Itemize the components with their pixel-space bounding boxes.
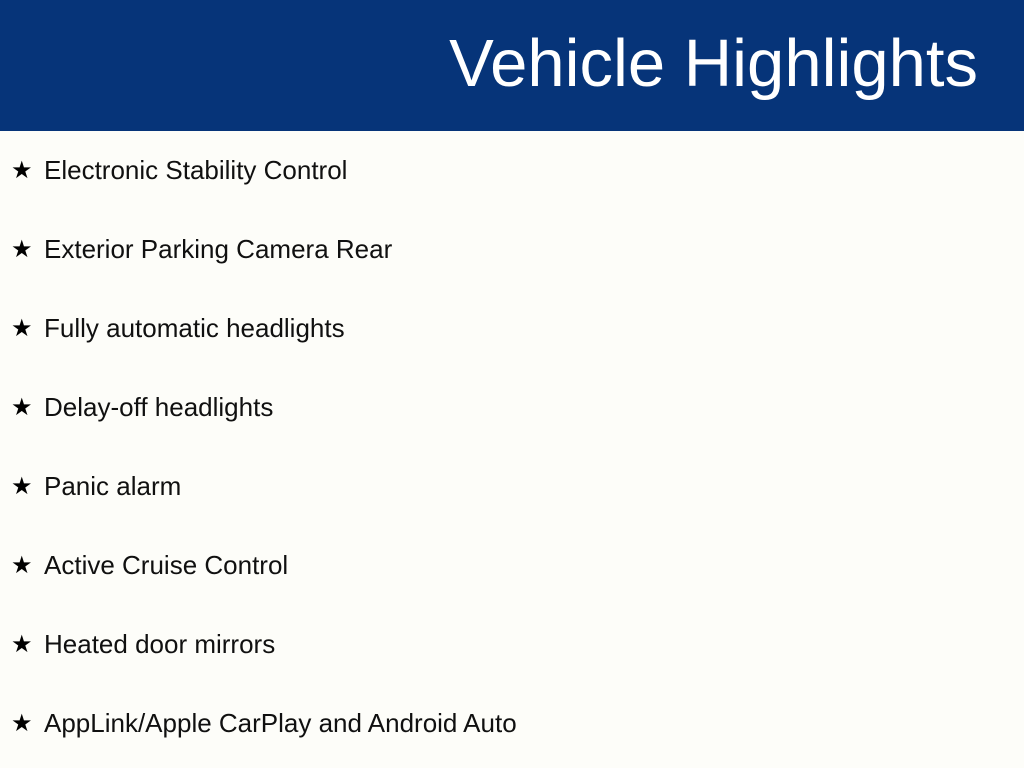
list-item: ★ Delay-off headlights xyxy=(0,368,1024,447)
vehicle-highlights-list: ★ Electronic Stability Control ★ Exterio… xyxy=(0,131,1024,763)
list-item: ★ Active Cruise Control xyxy=(0,526,1024,605)
list-item: ★ Heated door mirrors xyxy=(0,605,1024,684)
list-item-label: Electronic Stability Control xyxy=(44,156,347,185)
star-bullet-icon: ★ xyxy=(11,395,44,419)
list-item-label: Delay-off headlights xyxy=(44,393,273,422)
list-item-label: Panic alarm xyxy=(44,472,181,501)
star-bullet-icon: ★ xyxy=(11,237,44,261)
slide-root: Vehicle Highlights ★ Electronic Stabilit… xyxy=(0,0,1024,768)
list-item: ★ Exterior Parking Camera Rear xyxy=(0,210,1024,289)
star-bullet-icon: ★ xyxy=(11,632,44,656)
list-item-label: Active Cruise Control xyxy=(44,551,288,580)
list-item-label: Fully automatic headlights xyxy=(44,314,345,343)
list-item-label: Heated door mirrors xyxy=(44,630,275,659)
list-item: ★ Electronic Stability Control xyxy=(0,131,1024,210)
star-bullet-icon: ★ xyxy=(11,316,44,340)
list-item-label: AppLink/Apple CarPlay and Android Auto xyxy=(44,709,517,738)
list-item: ★ Panic alarm xyxy=(0,447,1024,526)
page-title: Vehicle Highlights xyxy=(449,30,1024,101)
list-item: ★ AppLink/Apple CarPlay and Android Auto xyxy=(0,684,1024,763)
star-bullet-icon: ★ xyxy=(11,711,44,735)
star-bullet-icon: ★ xyxy=(11,158,44,182)
slide-header-band: Vehicle Highlights xyxy=(0,0,1024,131)
star-bullet-icon: ★ xyxy=(11,474,44,498)
list-item: ★ Fully automatic headlights xyxy=(0,289,1024,368)
star-bullet-icon: ★ xyxy=(11,553,44,577)
list-item-label: Exterior Parking Camera Rear xyxy=(44,235,392,264)
